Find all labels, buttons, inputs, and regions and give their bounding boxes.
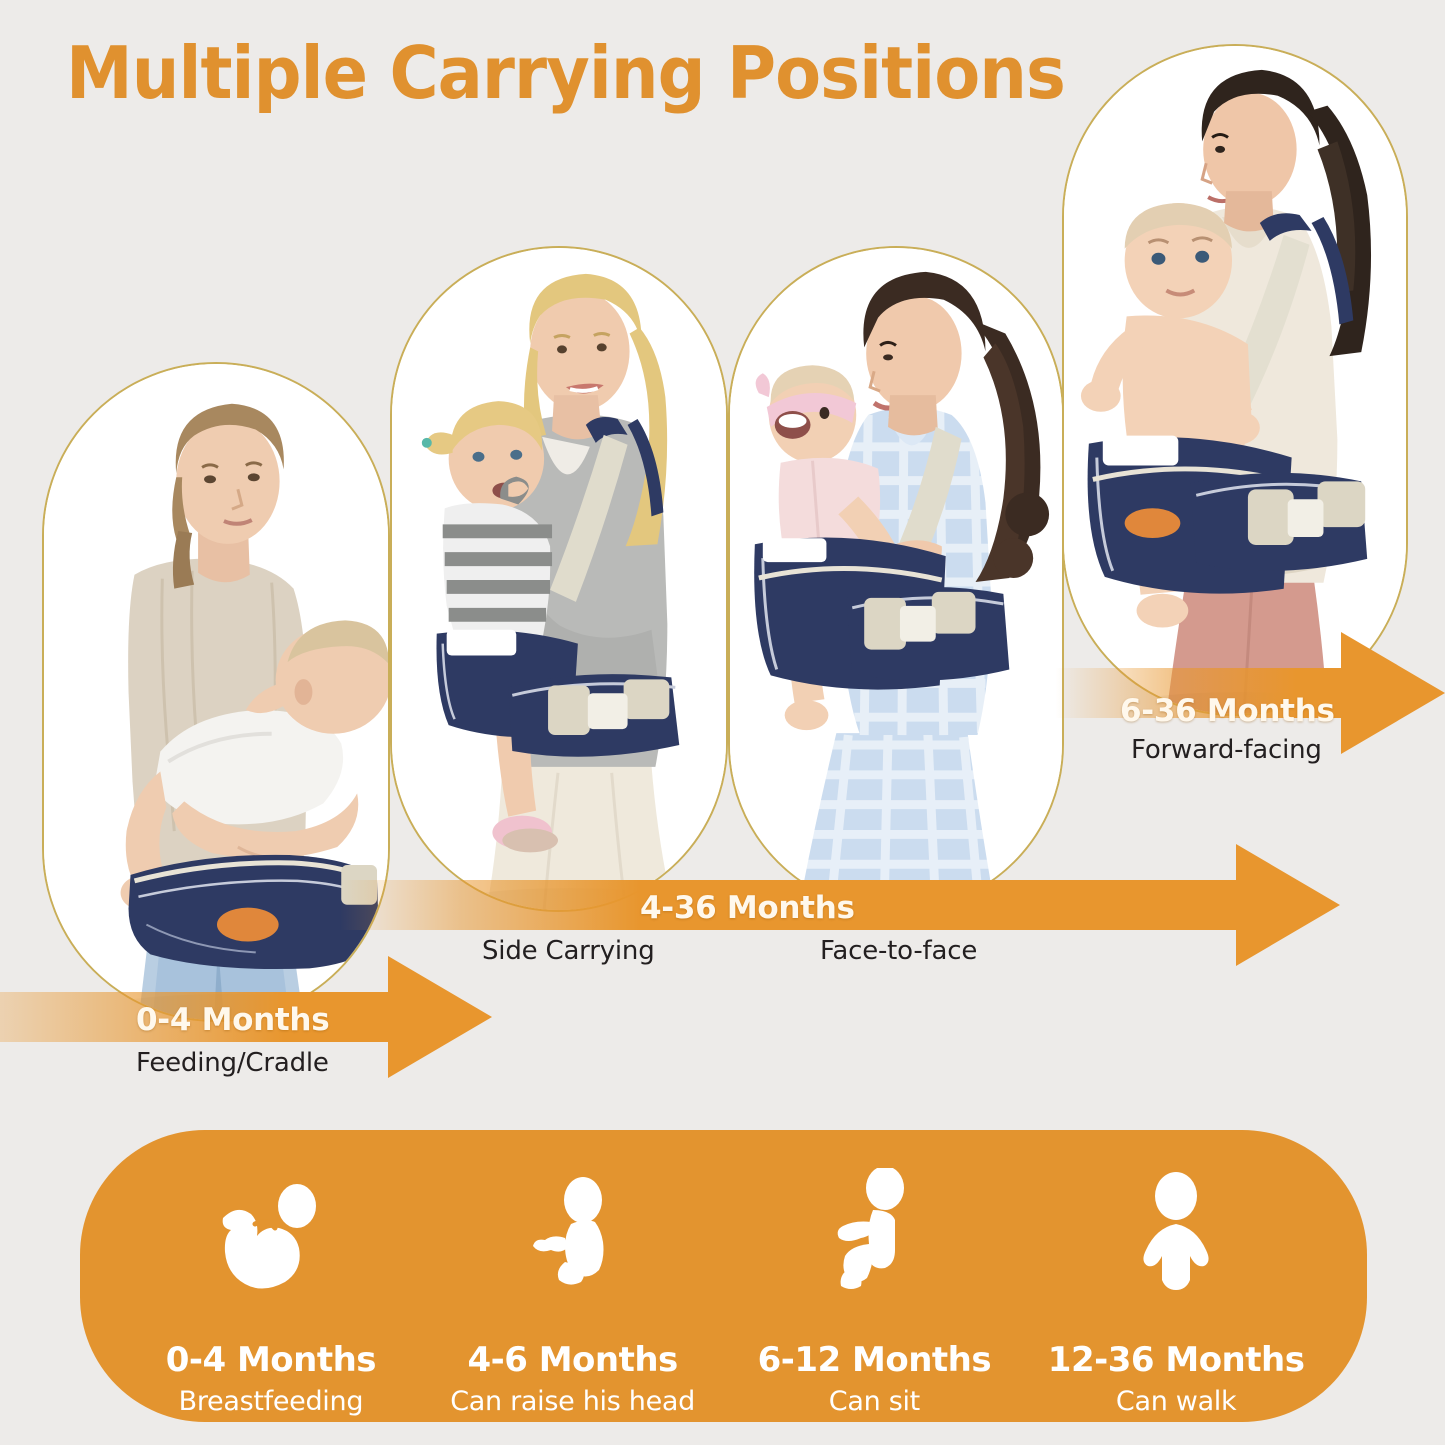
baby-breastfeeding-icon	[211, 1168, 331, 1294]
infographic-root: Multiple Carrying Positions	[0, 0, 1445, 1445]
arrow-6-36-months-age: 6-36 Months	[1120, 693, 1335, 729]
arrow-4-36-months-sub-face-to-face: Face-to-face	[820, 936, 977, 966]
milestone-can-sit-desc: Can sit	[829, 1386, 920, 1417]
photo-face-to-face	[730, 248, 1062, 910]
photo-card-face-to-face	[728, 246, 1064, 912]
milestone-can-sit: 6-12 Months Can sit	[724, 1130, 1026, 1422]
milestone-can-walk-desc: Can walk	[1116, 1386, 1236, 1417]
milestone-raise-head: 4-6 Months Can raise his head	[422, 1130, 724, 1422]
photo-forward-facing	[1064, 46, 1406, 714]
arrow-0-4-months-age: 0-4 Months	[136, 1002, 329, 1038]
milestones-banner: 0-4 Months Breastfeeding 4-6 Months Can …	[80, 1130, 1367, 1422]
milestone-breastfeeding: 0-4 Months Breastfeeding	[120, 1130, 422, 1422]
milestone-can-sit-age: 6-12 Months	[758, 1340, 992, 1380]
photo-card-side-carrying	[390, 246, 728, 912]
milestone-breastfeeding-age: 0-4 Months	[166, 1340, 376, 1380]
milestone-can-walk: 12-36 Months Can walk	[1025, 1130, 1327, 1422]
baby-raising-head-icon	[525, 1168, 621, 1294]
milestone-breastfeeding-desc: Breastfeeding	[179, 1386, 364, 1417]
photo-side-carrying	[392, 248, 726, 910]
milestones-grid: 0-4 Months Breastfeeding 4-6 Months Can …	[80, 1130, 1367, 1422]
arrow-0-4-months-sub-feeding-cradle: Feeding/Cradle	[136, 1048, 329, 1078]
arrow-6-36-months-sub-forward-facing: Forward-facing	[1131, 735, 1322, 765]
baby-standing-icon	[1126, 1168, 1226, 1294]
baby-sitting-icon	[829, 1168, 919, 1294]
milestone-raise-head-desc: Can raise his head	[450, 1386, 695, 1417]
photo-feeding-cradle	[44, 364, 388, 1020]
photo-card-feeding-cradle	[42, 362, 390, 1022]
arrow-4-36-months-sub-side-carrying: Side Carrying	[482, 936, 655, 966]
milestone-raise-head-age: 4-6 Months	[467, 1340, 677, 1380]
photo-card-forward-facing	[1062, 44, 1408, 716]
arrow-4-36-months-age: 4-36 Months	[640, 890, 855, 926]
page-title: Multiple Carrying Positions	[66, 36, 1065, 112]
milestone-can-walk-age: 12-36 Months	[1048, 1340, 1305, 1380]
